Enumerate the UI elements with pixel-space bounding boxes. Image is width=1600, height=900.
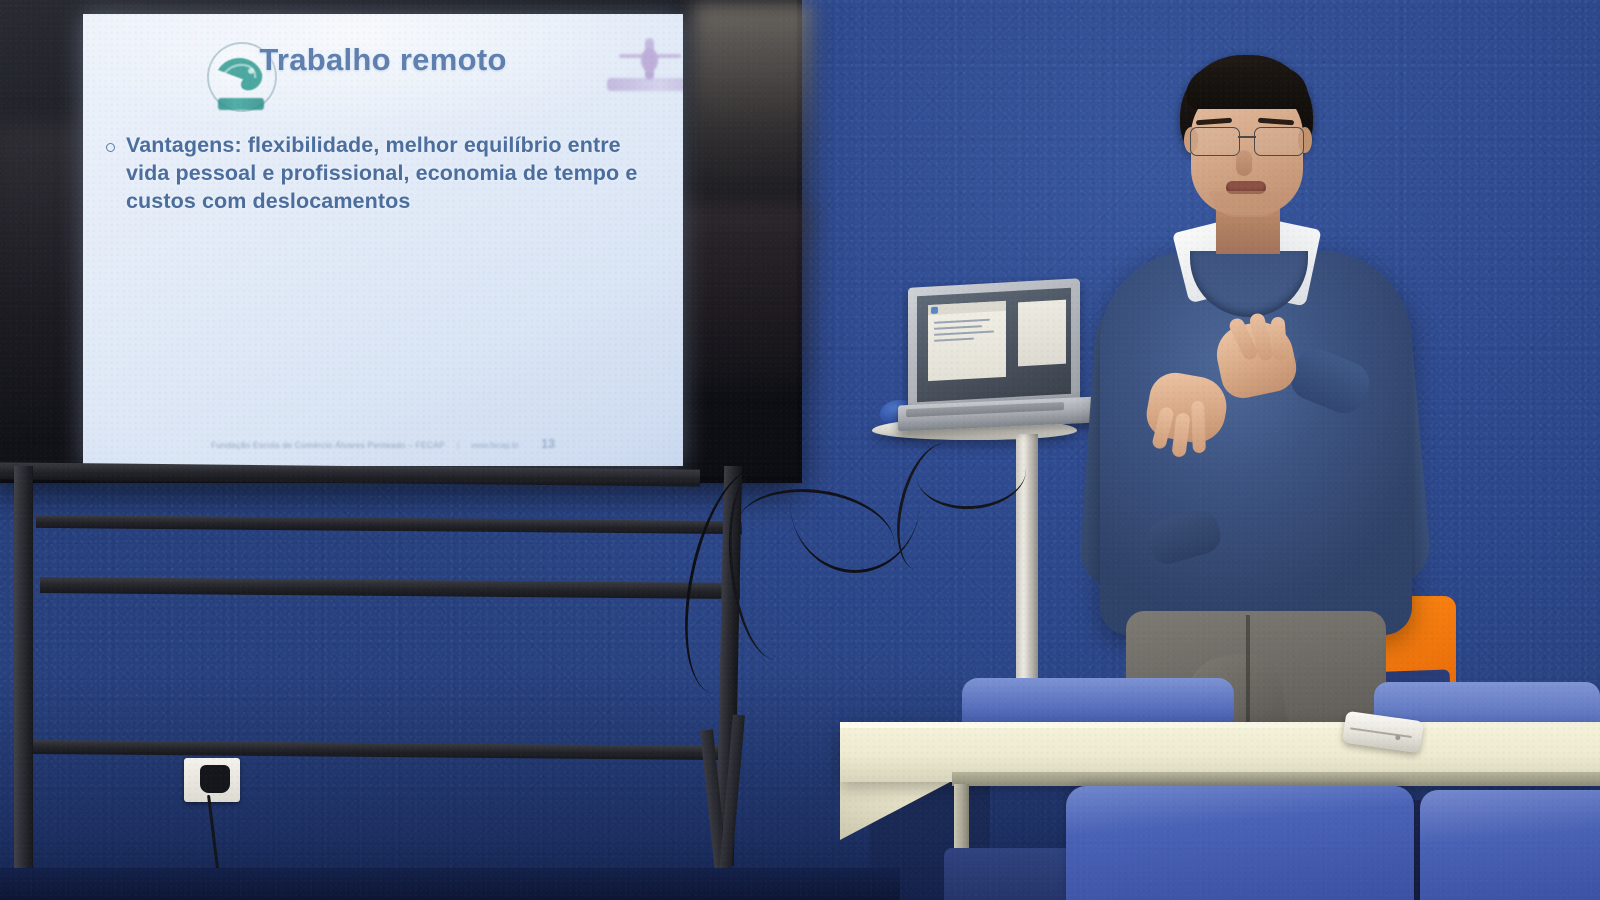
screen-reflection bbox=[0, 124, 87, 424]
footer-url: www.fecap.br bbox=[471, 441, 519, 450]
slide-bullet-text: Vantagens: flexibilidade, melhor equilíb… bbox=[126, 132, 666, 216]
window-text-line bbox=[934, 330, 994, 335]
presenter-nose bbox=[1236, 150, 1252, 176]
slide-page-number: 13 bbox=[541, 437, 555, 451]
remote-seam bbox=[1350, 727, 1412, 737]
wall-outlet bbox=[184, 758, 240, 802]
presenter-hair-fringe bbox=[1186, 67, 1308, 109]
fecap-wordmark bbox=[218, 98, 264, 110]
logo-script-text bbox=[607, 78, 683, 91]
screen-reflection bbox=[692, 2, 812, 232]
glasses-bridge bbox=[1238, 136, 1256, 138]
stand-leg bbox=[14, 466, 33, 886]
footer-separator: | bbox=[457, 440, 459, 450]
presentation-slide: Trabalho remoto Vantagens: flexibilidade… bbox=[83, 14, 683, 466]
screen-reflection bbox=[682, 204, 812, 384]
window-app-icon bbox=[931, 307, 938, 314]
footer-organization: Fundação Escola de Comércio Álvares Pent… bbox=[211, 440, 445, 450]
glasses-lens bbox=[1254, 127, 1304, 156]
presentation-room-photo: Trabalho remoto Vantagens: flexibilidade… bbox=[0, 0, 1600, 900]
stand-crossbar bbox=[40, 577, 740, 599]
glasses-lens bbox=[1190, 127, 1240, 156]
television-stand bbox=[0, 460, 790, 900]
stand-crossbar bbox=[0, 462, 700, 486]
bullet-marker-icon bbox=[106, 143, 115, 152]
slide-footer: Fundação Escola de Comércio Álvares Pent… bbox=[83, 437, 683, 451]
power-plug bbox=[200, 765, 230, 793]
remote-button bbox=[1395, 735, 1401, 741]
chair-blue-front-left bbox=[1066, 786, 1414, 900]
presenter bbox=[1040, 55, 1460, 775]
chair-blue-front-right bbox=[1420, 790, 1600, 900]
presenter-finger bbox=[1191, 401, 1206, 453]
stand-crossbar bbox=[20, 740, 738, 760]
window-text-line bbox=[934, 338, 974, 342]
window-text-line bbox=[934, 325, 982, 330]
table-apron bbox=[952, 772, 1600, 786]
slide-title: Trabalho remoto bbox=[83, 42, 683, 78]
laptop-window-primary bbox=[928, 301, 1006, 381]
floor-shadow bbox=[0, 868, 900, 900]
stand-crossbar bbox=[36, 515, 742, 534]
chair-blue-front-far bbox=[944, 848, 1074, 900]
slide-vignette bbox=[83, 14, 683, 466]
window-text-line bbox=[934, 319, 990, 324]
presenter-finger bbox=[1270, 317, 1287, 362]
slide-bullet-item: Vantagens: flexibilidade, melhor equilíb… bbox=[106, 132, 666, 216]
